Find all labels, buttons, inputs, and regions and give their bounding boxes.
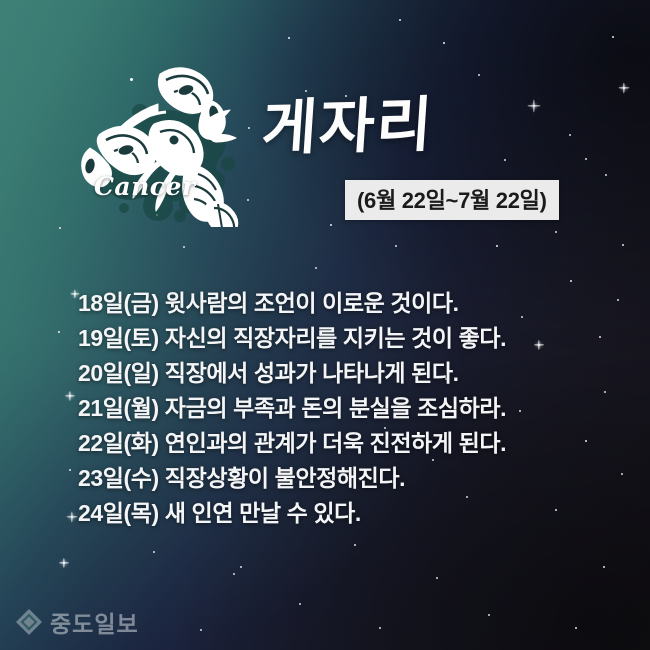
- star-dot: [478, 74, 480, 76]
- star-dot: [299, 603, 301, 605]
- star-dot: [200, 629, 202, 631]
- star-dot: [621, 473, 623, 475]
- cancer-emblem: Cancer: [62, 52, 262, 227]
- fortune-line: 20일(일) 직장에서 성과가 나타나게 된다.: [78, 356, 618, 391]
- date-range-badge: (6월 22일~7월 22일): [345, 180, 559, 220]
- diamond-logo-icon: [15, 608, 43, 636]
- star-dot: [436, 577, 438, 579]
- star-dot: [395, 245, 397, 247]
- star-sparkle: [59, 558, 69, 568]
- fortune-line: 24일(목) 새 인연 만날 수 있다.: [78, 496, 618, 531]
- fortune-line: 21일(월) 자금의 부족과 돈의 분실을 조심하라.: [78, 391, 618, 426]
- star-dot: [488, 614, 490, 616]
- watermark: 중도일보: [15, 605, 139, 639]
- fortune-list: 18일(금) 윗사람의 조언이 이로운 것이다.19일(토) 자신의 직장자리를…: [78, 286, 618, 531]
- fortune-line: 18일(금) 윗사람의 조언이 이로운 것이다.: [78, 286, 618, 321]
- fortune-line: 22일(화) 연인과의 관계가 더욱 진전하게 된다.: [78, 426, 618, 461]
- star-dot: [379, 627, 381, 629]
- fortune-line: 23일(수) 직장상황이 불안정해진다.: [78, 461, 618, 496]
- star-dot: [555, 231, 557, 233]
- star-sparkle: [65, 391, 75, 401]
- star-sparkle: [67, 512, 78, 523]
- star-dot: [233, 573, 235, 575]
- star-dot: [153, 551, 155, 553]
- horoscope-card: Cancer 게자리 (6월 22일~7월 22일) 18일(금) 윗사람의 조…: [0, 0, 650, 650]
- star-dot: [183, 246, 185, 248]
- star-dot: [305, 90, 307, 92]
- star-dot: [504, 159, 506, 161]
- page-title: 게자리: [260, 95, 436, 159]
- star-sparkle: [528, 100, 541, 113]
- fortune-line: 19일(토) 자신의 직장자리를 지키는 것이 좋다.: [78, 321, 618, 356]
- star-sparkle: [619, 83, 630, 94]
- watermark-label: 중도일보: [50, 605, 139, 639]
- star-dot: [240, 566, 242, 568]
- star-dot: [315, 267, 317, 269]
- star-dot: [605, 174, 607, 176]
- star-dot: [569, 134, 571, 136]
- sign-latin-name: Cancer: [94, 172, 196, 201]
